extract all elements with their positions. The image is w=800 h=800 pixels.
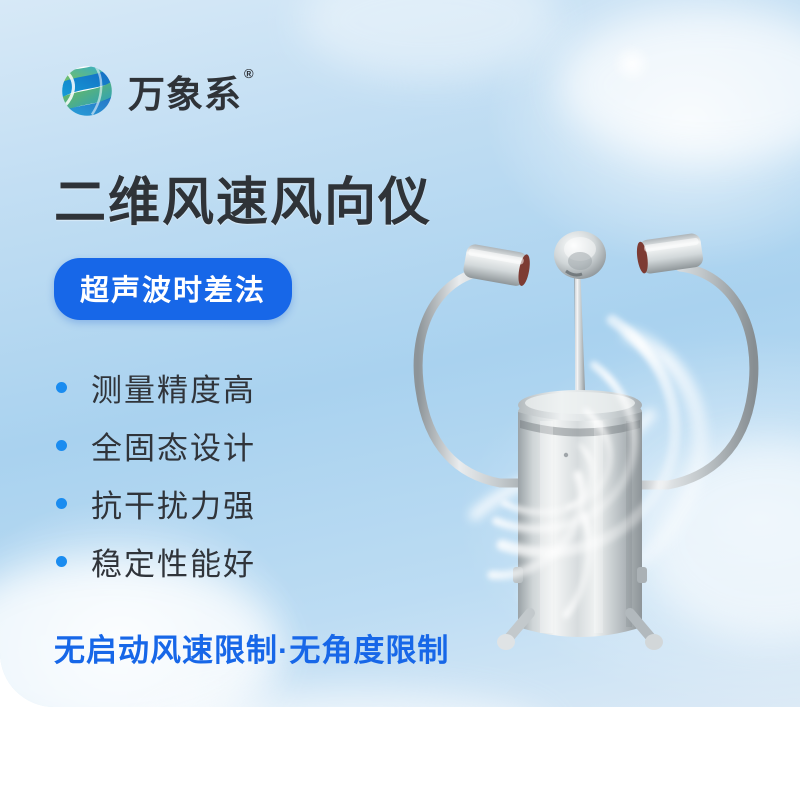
list-item: 测量精度高 xyxy=(56,358,256,416)
feature-label: 全固态设计 xyxy=(91,423,256,468)
feature-label: 稳定性能好 xyxy=(91,539,256,584)
brand-wordmark: 万象系 ® xyxy=(128,64,255,118)
globe-swirl-logo-icon xyxy=(56,60,118,122)
brand-logo: 万象系 ® xyxy=(56,60,255,122)
footer-banner: 品质保障 极速发货 xyxy=(0,707,800,800)
product-poster: 万象系 ® 二维风速风向仪 超声波时差法 测量精度高 全固态设计 抗干扰力强 稳… xyxy=(0,0,800,800)
method-badge: 超声波时差法 xyxy=(54,258,292,320)
post-top-knob xyxy=(554,231,606,279)
bullet-dot-icon xyxy=(56,440,67,451)
feature-label: 抗干扰力强 xyxy=(91,481,256,526)
bullet-dot-icon xyxy=(56,498,67,509)
list-item: 稳定性能好 xyxy=(56,532,256,590)
list-item: 全固态设计 xyxy=(56,416,256,474)
list-item: 抗干扰力强 xyxy=(56,474,256,532)
sun-glow xyxy=(612,44,652,84)
product-image xyxy=(380,215,780,665)
registered-mark: ® xyxy=(244,67,255,80)
ultrasonic-anemometer-illustration xyxy=(380,215,780,665)
cloud-decoration xyxy=(560,10,800,160)
bullet-dot-icon xyxy=(56,382,67,393)
left-transducer-head xyxy=(462,243,532,288)
feature-label: 测量精度高 xyxy=(91,365,256,410)
cloud-decoration xyxy=(300,0,560,80)
bullet-dot-icon xyxy=(56,556,67,567)
page-title: 二维风速风向仪 xyxy=(54,160,432,235)
feature-list: 测量精度高 全固态设计 抗干扰力强 稳定性能好 xyxy=(56,358,256,590)
brand-name: 万象系 xyxy=(128,64,242,118)
